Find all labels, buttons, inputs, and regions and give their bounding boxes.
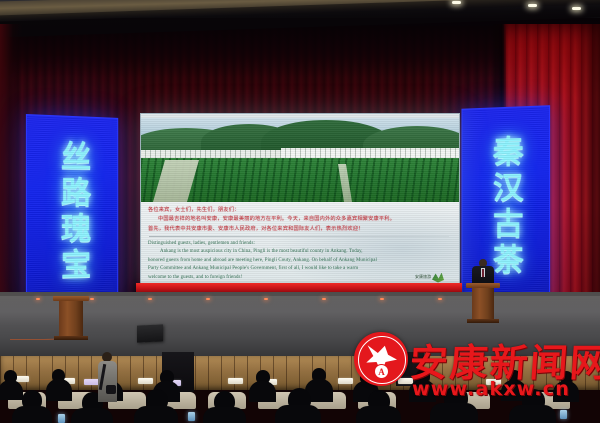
name-card <box>228 378 243 384</box>
leaf-icon <box>432 273 444 283</box>
podium-left-base <box>54 336 88 340</box>
led-banner-left-text: 丝路瑰宝 <box>57 139 88 284</box>
slide-en-line-2: Ankang is the most auspicious city in Ch… <box>148 248 452 256</box>
slide-cn-line-2: 中国最吉祥的地名叫安康，安康最美丽的地方在平利。今天，来自国内外的众多嘉宾相聚安… <box>148 215 452 224</box>
watermark: A 安康新闻网 www.akxw.cn <box>352 330 596 400</box>
slide-text-area: 各位来宾，女士们，先生们，朋友们： 中国最吉祥的地名叫安康，安康最美丽的地方在平… <box>141 202 459 286</box>
photo-buildings-row-2 <box>281 148 459 158</box>
slide-cn-line-1: 各位来宾，女士们，先生们，朋友们： <box>148 207 240 213</box>
name-card <box>338 378 353 384</box>
floor-light <box>148 298 152 300</box>
audience-phone-screen <box>188 412 195 421</box>
slide-chinese-text: 各位来宾，女士们，先生们，朋友们： 中国最吉祥的地名叫安康，安康最美丽的地方在平… <box>148 206 452 234</box>
ceiling-light-3 <box>572 7 581 10</box>
slide-en-line-1: Distinguished guests, ladies, gentlemen … <box>148 241 255 246</box>
main-projection-screen: 各位来宾，女士们，先生们，朋友们： 中国最吉祥的地名叫安康，安康最美丽的地方在平… <box>140 113 460 287</box>
audience-torso <box>0 380 23 400</box>
podium-left-body <box>59 301 83 336</box>
slide-divider <box>149 236 449 237</box>
podium-left <box>57 296 85 340</box>
podium-right <box>470 283 496 323</box>
slide-corner-logo-label: 安康旅游 <box>415 275 431 279</box>
ceiling-light-1 <box>452 1 461 4</box>
photographer-bag <box>106 385 116 394</box>
name-card <box>138 378 153 384</box>
slide-en-line-4: Party Committee and Ankang Municipal Peo… <box>148 266 358 271</box>
floor-light <box>264 298 268 300</box>
watermark-url: www.akxw.cn <box>412 378 570 400</box>
slide-en-line-5: welcome to the guests, and to foreign fr… <box>148 275 242 280</box>
audience-torso-front <box>12 406 52 423</box>
name-card <box>84 379 99 385</box>
speaker-at-podium <box>472 259 494 286</box>
stage-photo-scene: 丝路瑰宝 秦汉古茶 各位来宾，女士们，先生们，朋友们： 中国最吉祥的地名叫安康，… <box>0 0 600 423</box>
standing-photographer <box>98 352 117 402</box>
logo-letter-a: A <box>374 364 389 379</box>
audience-phone-screen <box>560 410 567 419</box>
audience-torso-front <box>430 403 478 423</box>
ceiling-light-2 <box>528 4 537 7</box>
floor-light <box>322 298 326 300</box>
audience-torso-front <box>509 405 556 423</box>
audience-torso-front <box>134 406 178 423</box>
audience-torso <box>46 379 72 401</box>
podium-right-base <box>467 319 499 323</box>
floor-light <box>90 298 94 300</box>
audience-torso <box>249 381 276 402</box>
floor-light <box>36 298 40 300</box>
floor-light <box>438 298 442 300</box>
audience-torso-front <box>203 407 246 423</box>
audience-torso-front <box>71 408 113 423</box>
audience-torso-front <box>356 406 401 423</box>
led-banner-right-text: 秦汉古茶 <box>490 135 521 280</box>
stage-monitor-speaker <box>137 324 163 342</box>
podium-right-body <box>472 288 494 319</box>
slide-english-text: Distinguished guests, ladies, gentlemen … <box>148 240 452 282</box>
audience-torso-front <box>275 405 321 423</box>
audience-phone-screen <box>58 414 65 423</box>
news-site-logo: A <box>354 332 408 386</box>
floor-light <box>206 298 210 300</box>
speaker-tie <box>482 269 484 277</box>
slide-cn-line-3: 首先，我代表中共安康市委、安康市人民政府，对各位来宾和国际友人们，表示热烈欢迎！ <box>148 226 364 232</box>
floor-light <box>380 298 384 300</box>
led-banner-left: 丝路瑰宝 <box>26 114 118 309</box>
slide-en-line-3: honored guests from home and abroad are … <box>148 258 377 263</box>
stage-floor-light-row <box>0 296 600 304</box>
slide-photo-tea-plantation <box>141 118 459 202</box>
